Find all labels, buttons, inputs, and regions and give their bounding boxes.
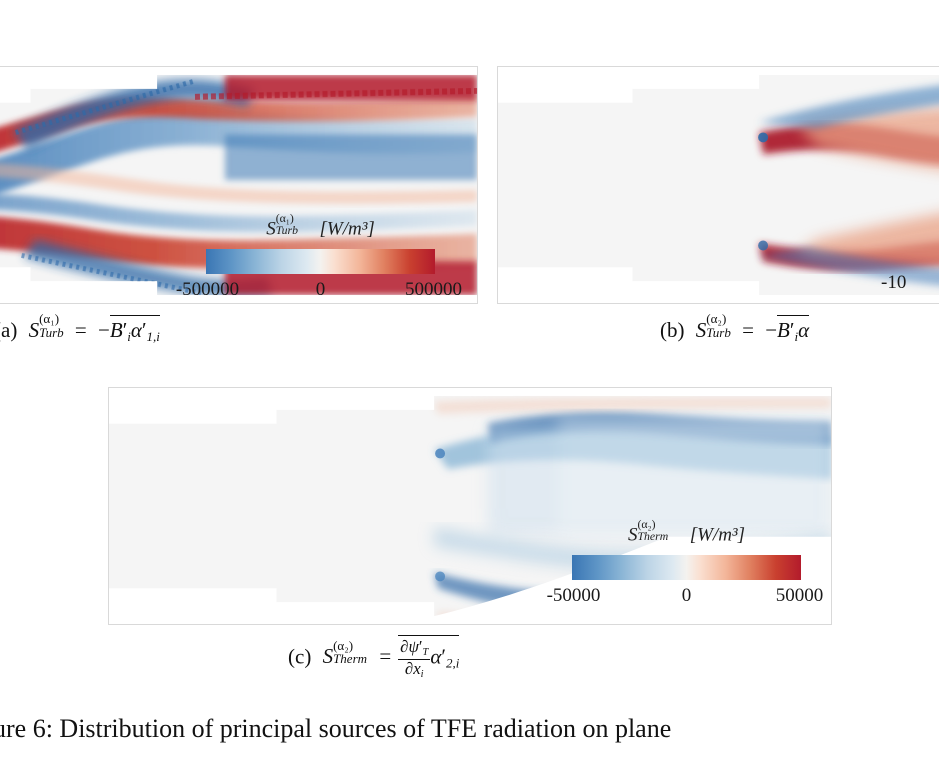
panel-a-turbulent-alpha1: S(α₁)Turb [W/m³] -500000 0 500000 [0,66,478,304]
panel-a-colorbar-ticks: -500000 0 500000 [151,279,478,301]
figure-caption: gure 6: Distribution of principal source… [0,712,939,746]
panel-c-thermal-alpha2: S(α₂)Therm [W/m³] -50000 0 50000 [108,387,832,625]
subcaption-b-eq: = [742,318,754,342]
panel-c-tick-min: -50000 [517,585,630,607]
panel-a-tick-min: -500000 [151,279,264,301]
subcaption-a-tag: (a) [0,318,17,342]
panel-b-flowfield [498,67,939,303]
subcaption-b-minus: − [765,318,777,342]
subcaption-b: (b) S(α₂)Turb = −B′iα [660,315,809,350]
subcaption-a-minus: − [98,318,110,342]
subcaption-a-eq: = [75,318,87,342]
panel-b-turbulent-alpha2: -10 [497,66,939,304]
subcaption-c-fraction: ∂ψ′T∂xi [398,638,430,681]
subcaption-b-tag: (b) [660,318,685,342]
panel-a-tick-mid: 0 [264,279,377,301]
panel-a-tick-max: 500000 [377,279,478,301]
subcaption-a: (a) S(α₁)Turb = −B′iα′1,i [0,315,160,350]
panel-c-colorbar-title: S(α₂)Therm [W/m³] [572,523,801,547]
panel-a-colorbar-units: [W/m³] [319,219,374,240]
panel-a-cbar-supsub: (α₁)Turb [276,213,298,237]
subcaption-c: (c) S(α₂)Therm =∂ψ′T∂xiα′2,i [288,635,459,680]
panel-b-colorbar-tick-partial: -10 [881,272,906,294]
panel-c-cbar-supsub: (α₂)Therm [637,519,668,543]
panel-c-tick-max: 50000 [743,585,832,607]
panel-c-colorbar-ticks: -50000 0 50000 [517,585,832,607]
panel-c-tick-mid: 0 [630,585,743,607]
subcaption-c-tag: (c) [288,644,311,668]
subcaption-c-eq: = [379,644,391,668]
panel-c-colorbar [572,555,801,580]
panel-a-colorbar-title: S(α₁)Turb [W/m³] [206,217,435,241]
figure-6: S(α₁)Turb [W/m³] -500000 0 500000 [0,0,939,757]
panel-a-colorbar [206,249,435,274]
panel-c-colorbar-units: [W/m³] [690,525,745,546]
